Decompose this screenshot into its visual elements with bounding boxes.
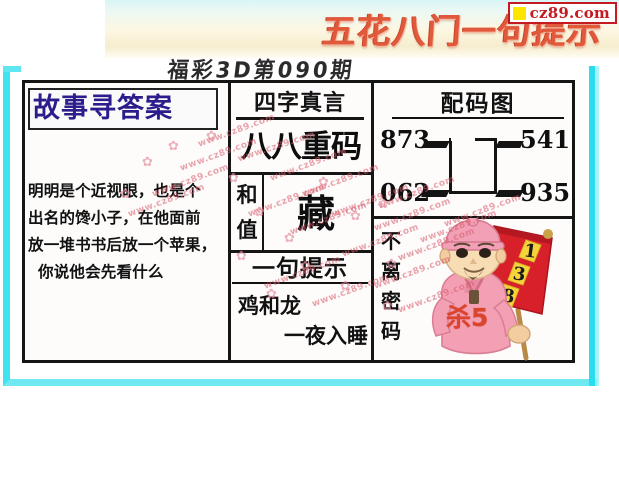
story-title: 故事寻答案 xyxy=(33,92,215,126)
table-divider-2 xyxy=(371,80,374,363)
match-number-top-right: 541 xyxy=(520,127,570,153)
hint-line-1: 鸡和龙 xyxy=(234,292,364,320)
vertical-slogan-char-4: 码 xyxy=(378,316,404,346)
vertical-slogan-char-3: 密 xyxy=(378,286,404,316)
hidden-char: 藏 xyxy=(264,186,368,242)
page-root: 五花八门一句提示 cz89.com 福彩3D第090期 故事寻答案 明明是个近视… xyxy=(0,0,619,477)
match-arrow-top-right-icon xyxy=(495,141,524,148)
middle-title: 四字真言 xyxy=(236,89,364,119)
vertical-slogan-char-2: 离 xyxy=(378,256,404,286)
match-number-top-left: 873 xyxy=(380,127,430,153)
story-line-1: 明明是个近视眼，也是个 xyxy=(28,178,226,205)
match-code-title: 配码图 xyxy=(392,89,564,119)
story-line-2: 出名的馋小子，在他面前 xyxy=(28,205,226,232)
vertical-slogan-char-1: 不 xyxy=(378,226,404,256)
logo-text: cz89.com xyxy=(530,6,610,21)
hint-title: 一句提示 xyxy=(232,254,368,284)
story-body: 明明是个近视眼，也是个 出名的馋小子，在他面前 放一堆书书后放一个苹果， 你说他… xyxy=(28,178,226,286)
middle-hline-1 xyxy=(228,172,374,175)
match-diagram-box xyxy=(449,138,497,194)
table-divider-1 xyxy=(228,80,231,363)
match-arrow-bottom-right-icon xyxy=(495,190,524,197)
story-line-3: 放一堆书书后放一个苹果， xyxy=(28,232,226,259)
middle-hline-2 xyxy=(228,250,374,253)
cyan-frame-top-stub xyxy=(3,66,21,72)
cartoon-figure: 1 3 8 xyxy=(420,218,575,363)
vertical-slogan: 不 离 密 码 xyxy=(378,226,404,346)
story-line-4: 你说他会先看什么 xyxy=(28,259,226,286)
hint-line-2: 一夜入睡 xyxy=(234,322,370,350)
middle-code: 八八重码 xyxy=(234,126,368,168)
site-logo[interactable]: cz89.com xyxy=(508,2,617,24)
logo-square-icon xyxy=(513,7,526,20)
cyan-frame-right-glow xyxy=(595,66,599,386)
match-number-bottom-right: 935 xyxy=(520,180,570,206)
robe-text: 杀5 xyxy=(446,305,488,330)
match-arrow-top-left-icon xyxy=(421,141,450,148)
match-arrow-bottom-left-icon xyxy=(421,190,450,197)
sum-label: 和值 xyxy=(234,178,260,248)
